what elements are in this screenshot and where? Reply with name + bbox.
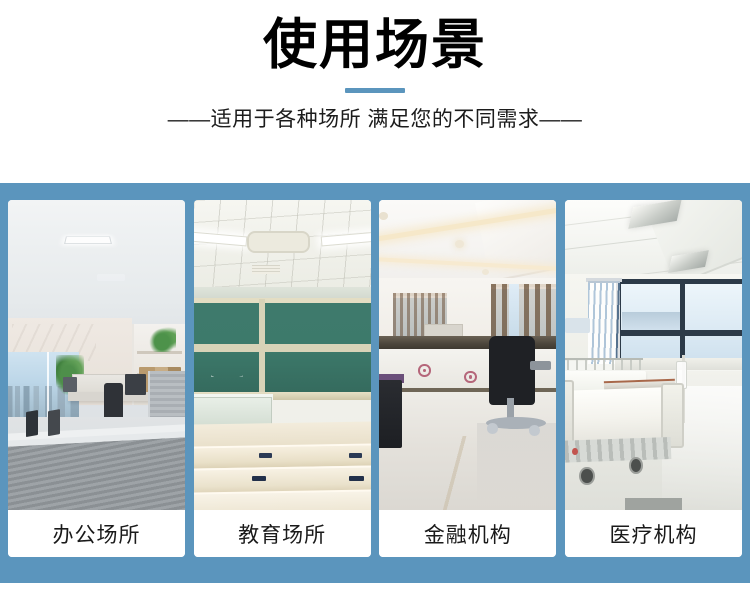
bank-curtain-near [491,284,557,340]
chalkboard-frame-h [194,344,371,351]
hospital-ward-photo [565,200,742,510]
chair-armrest [530,361,551,370]
chalk-writing [211,355,243,377]
student-desk-row-2 [194,465,371,493]
promo-page: 使用场景 ——适用于各种场所 满足您的不同需求—— [0,0,750,590]
scenario-card-education[interactable]: 教育场所 [194,200,371,557]
foreground-railing [8,430,185,510]
window-frame-horizontal [616,330,742,336]
desk-monitor [125,374,146,396]
bed-headboard [565,380,574,448]
scenario-label-medical: 医疗机构 [565,510,742,557]
bed-caster-2 [629,457,643,474]
ceiling-spotlight-2 [379,212,388,219]
window-mullion [47,352,49,420]
counter-emblem-1 [418,364,430,376]
counter-emblem-2 [464,371,476,383]
chalkboard-frame-v [259,299,265,392]
wall-service-panel [565,318,590,334]
student-desk-row-1 [194,443,371,468]
page-subtitle: ——适用于各种场所 满足您的不同需求—— [0,107,750,133]
desk-fitting-4 [349,476,363,482]
office-interior-photo [8,200,185,510]
bed-foot-shadow [625,498,682,510]
chair-casters [487,423,498,434]
side-cabinet [379,380,402,448]
ceiling-ac-unit [247,231,311,253]
scenario-card-grid: 办公场所 [8,200,742,557]
scenario-card-medical[interactable]: 医疗机构 [565,200,742,557]
bank-interior-photo [379,200,556,510]
scenario-label-office: 办公场所 [8,510,185,557]
scenario-label-finance: 金融机构 [379,510,556,557]
chalkboard-top-frame [194,298,371,303]
bank-office-chair [489,336,535,404]
scenario-label-education: 教育场所 [194,510,371,557]
bed-underframe [565,437,672,463]
desk-fitting-1 [259,453,271,458]
ceiling-vent [252,265,280,274]
bed-caster-1 [579,467,595,486]
ceiling-panel-light-2 [97,274,125,280]
floor-reflection [477,423,557,504]
window-frame-top [616,279,742,284]
classroom-interior-photo [194,200,371,510]
foreground-sign [26,410,38,437]
shelf-plant [148,327,176,352]
desk-fitting-3 [252,476,266,482]
privacy-curtain [588,281,620,365]
curtain-gap-light [509,284,520,340]
header-section: 使用场景 ——适用于各种场所 满足您的不同需求—— [0,0,750,133]
title-accent-bar [345,88,405,93]
far-bed-siderail [565,358,643,370]
desk-fitting-2 [349,453,361,458]
student-desk-row-3 [194,490,371,510]
desk-monitor-2 [63,377,77,393]
ceiling-panel-light [64,237,112,245]
scenario-card-finance[interactable]: 金融机构 [379,200,556,557]
scenario-card-office[interactable]: 办公场所 [8,200,185,557]
page-title: 使用场景 [0,14,750,76]
